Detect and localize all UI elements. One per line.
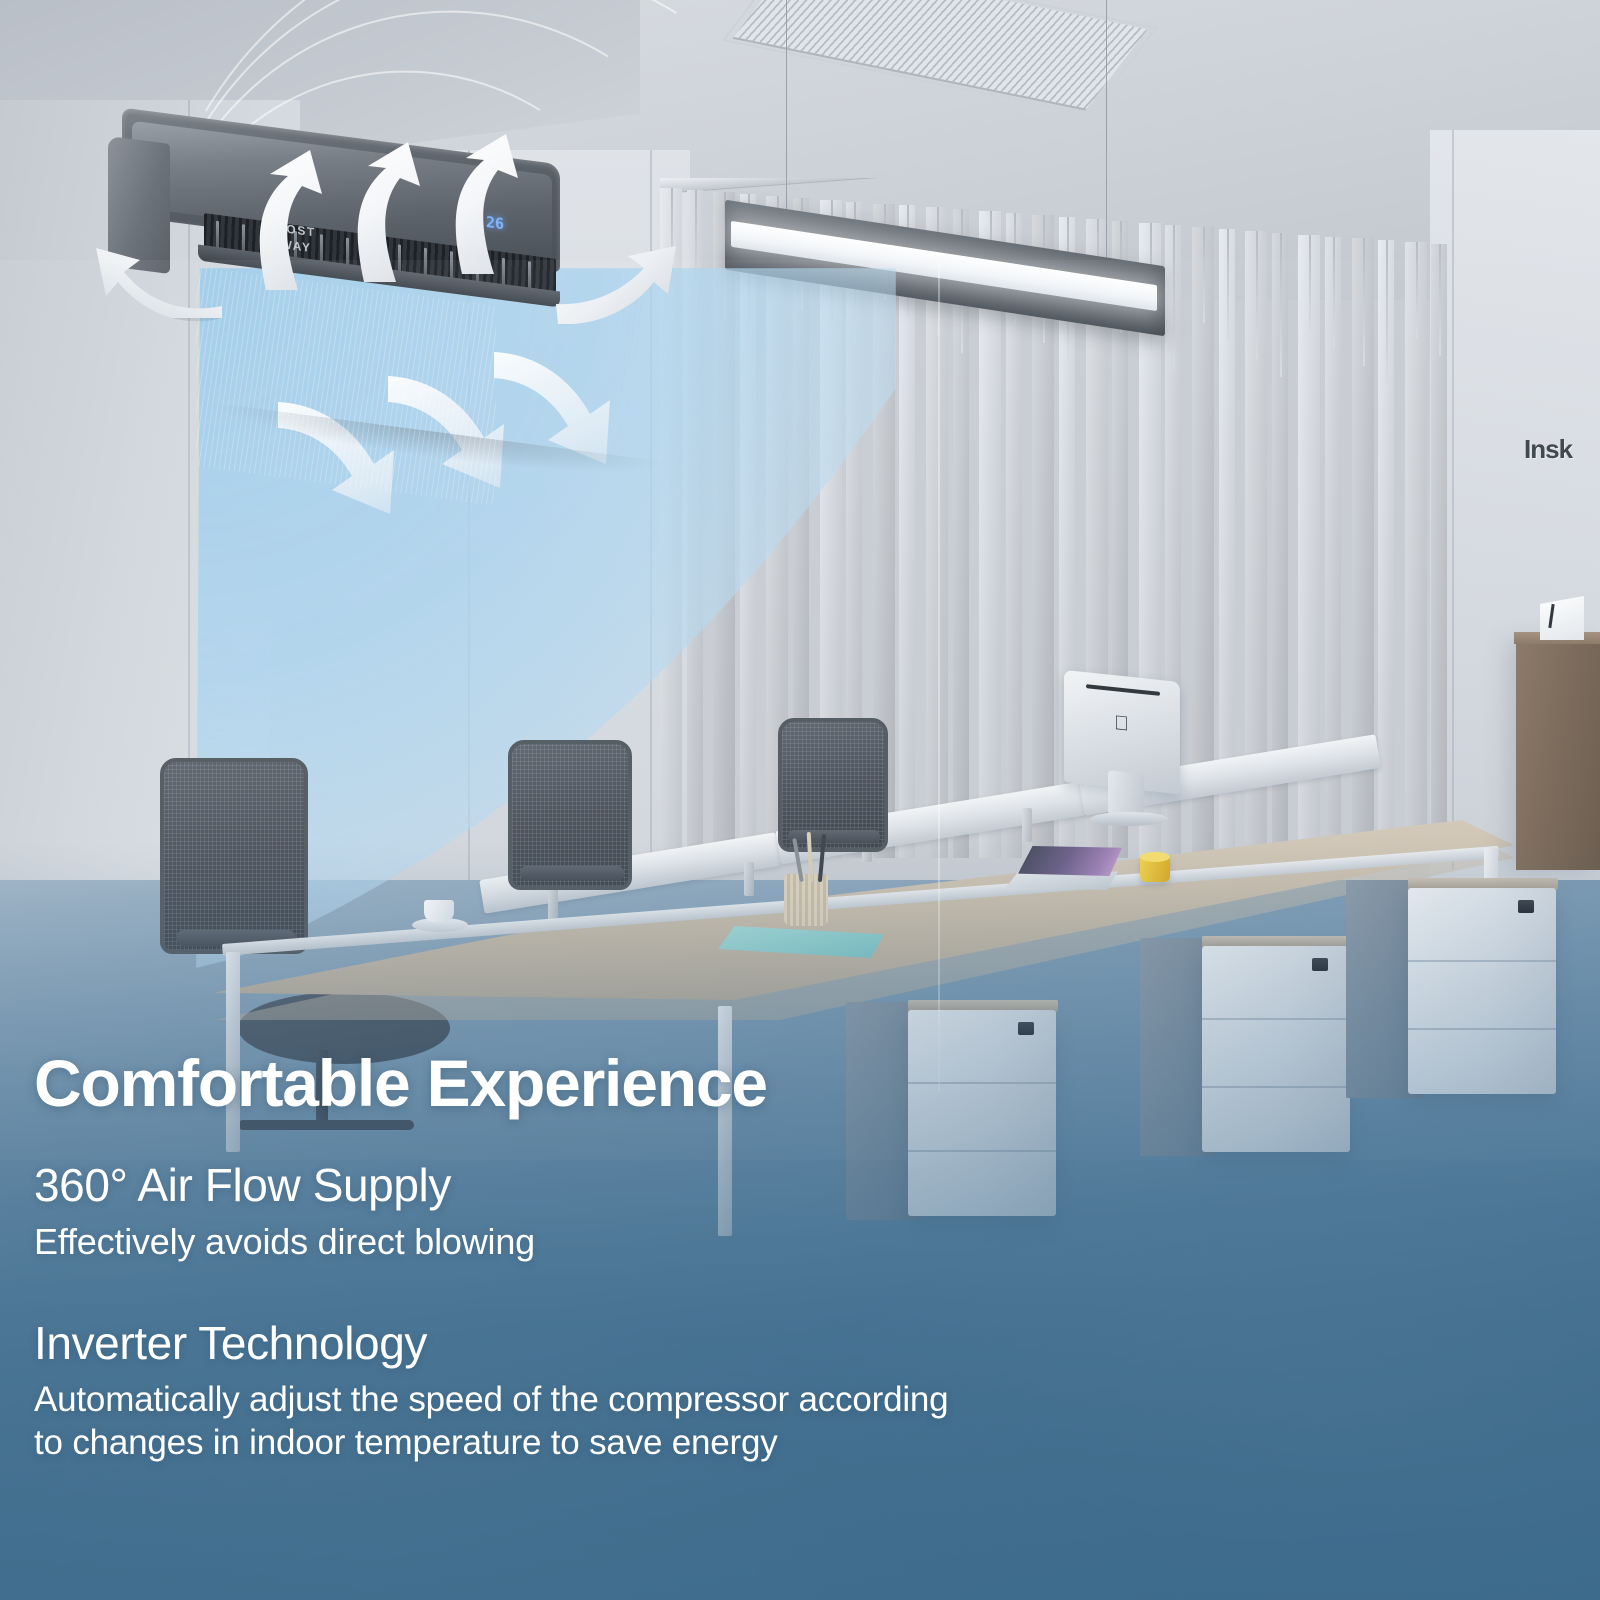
imac-stand — [1108, 770, 1144, 818]
imac-base — [1090, 812, 1168, 826]
feature-2-subtitle-line-1: Automatically adjust the speed of the co… — [34, 1379, 1454, 1422]
temperature-display: 26 — [482, 212, 508, 237]
blind-chain — [1439, 244, 1441, 356]
blind-chain — [1280, 233, 1282, 377]
laptop — [1006, 846, 1122, 890]
scene-canvas: Insk COST WAY 26 — [0, 0, 1600, 1600]
marketing-copy: Comfortable Experience 360° Air Flow Sup… — [34, 1050, 1454, 1465]
rail-post — [1022, 808, 1032, 842]
rail-post — [548, 886, 558, 920]
wall-seam — [1452, 130, 1454, 870]
wood-cabinet — [1516, 640, 1600, 870]
pedestal-drawer-seam — [1202, 1018, 1350, 1020]
apple-logo-icon:  — [1114, 713, 1132, 735]
ac-cool-stream — [196, 267, 496, 506]
yellow-mug-rim — [1140, 852, 1170, 862]
page-title: Comfortable Experience — [34, 1050, 1454, 1117]
blind-chain — [1309, 235, 1311, 331]
blind-chain — [1227, 229, 1229, 341]
blind-chain — [1416, 242, 1418, 338]
glass-edge — [938, 262, 940, 1092]
blind-chain — [1256, 231, 1258, 359]
feature-block-1: 360° Air Flow Supply Effectively avoids … — [34, 1161, 1454, 1263]
laptop-screen — [1018, 846, 1122, 876]
rail-post — [744, 862, 754, 896]
pedestal-lock-icon — [1518, 900, 1534, 913]
feature-2-title: Inverter Technology — [34, 1319, 1454, 1369]
pedestal-drawer-seam — [1408, 1028, 1556, 1030]
blind-chain — [1203, 227, 1205, 323]
pendant-wire — [1106, 0, 1107, 272]
chair-backrest — [160, 758, 308, 954]
pedestal-lock-icon — [1312, 958, 1328, 971]
chair-armrest — [520, 866, 624, 880]
pedestal-drawer-seam — [1408, 960, 1556, 962]
blind-chain — [1333, 237, 1335, 349]
imac-monitor:  — [1064, 676, 1180, 788]
blind-chain — [1173, 225, 1175, 369]
feature-block-2: Inverter Technology Automatically adjust… — [34, 1319, 1454, 1464]
wall-signage: Insk — [1524, 434, 1600, 465]
chair-armrest — [788, 830, 880, 843]
blind-chain — [1363, 238, 1365, 366]
pedestal-lock-icon — [1018, 1022, 1034, 1035]
blind-chain — [1386, 240, 1388, 384]
feature-1-title: 360° Air Flow Supply — [34, 1161, 1454, 1211]
coffee-cup — [424, 900, 454, 922]
feature-1-subtitle: Effectively avoids direct blowing — [34, 1221, 1454, 1263]
feature-2-subtitle-line-2: to changes in indoor temperature to save… — [34, 1422, 1454, 1465]
pencil-holder — [784, 874, 828, 926]
ac-left-cap — [108, 136, 170, 274]
